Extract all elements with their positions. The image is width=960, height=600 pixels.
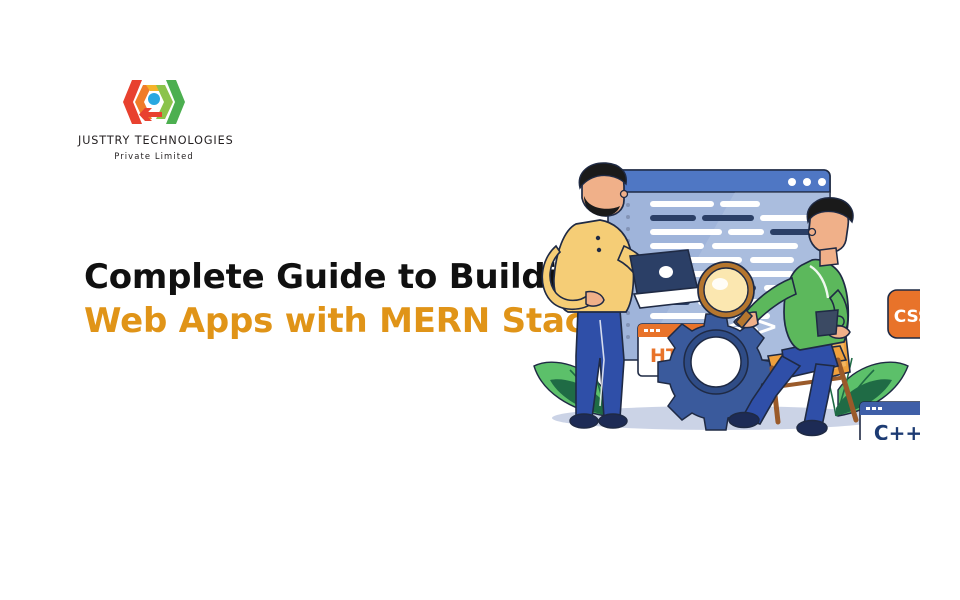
css-badge-label: CSS — [894, 307, 920, 327]
mern-stack-developers-illustration: </> — [520, 160, 920, 440]
page-title: Complete Guide to Building Web Apps with… — [84, 255, 554, 343]
logo-company-name: JUSTTRY TECHNOLOGIES — [78, 134, 230, 147]
headline-line-1: Complete Guide to Building — [84, 255, 554, 299]
cpp-badge[interactable]: C++ — [860, 402, 920, 440]
logo-company-suffix: Private Limited — [78, 151, 230, 161]
hexagon-bracket-logo-icon — [122, 76, 186, 128]
headline-line-2: Web Apps with MERN Stack — [84, 299, 554, 343]
css-badge[interactable]: CSS — [888, 290, 920, 338]
brand-logo-block: JUSTTRY TECHNOLOGIES Private Limited — [78, 76, 230, 161]
window-dot-3 — [818, 178, 826, 186]
window-dot-1 — [788, 178, 796, 186]
illustration-svg: </> — [520, 160, 920, 440]
window-dot-2 — [803, 178, 811, 186]
poster-canvas: JUSTTRY TECHNOLOGIES Private Limited Com… — [0, 0, 960, 600]
cpp-badge-label: C++ — [874, 421, 920, 440]
